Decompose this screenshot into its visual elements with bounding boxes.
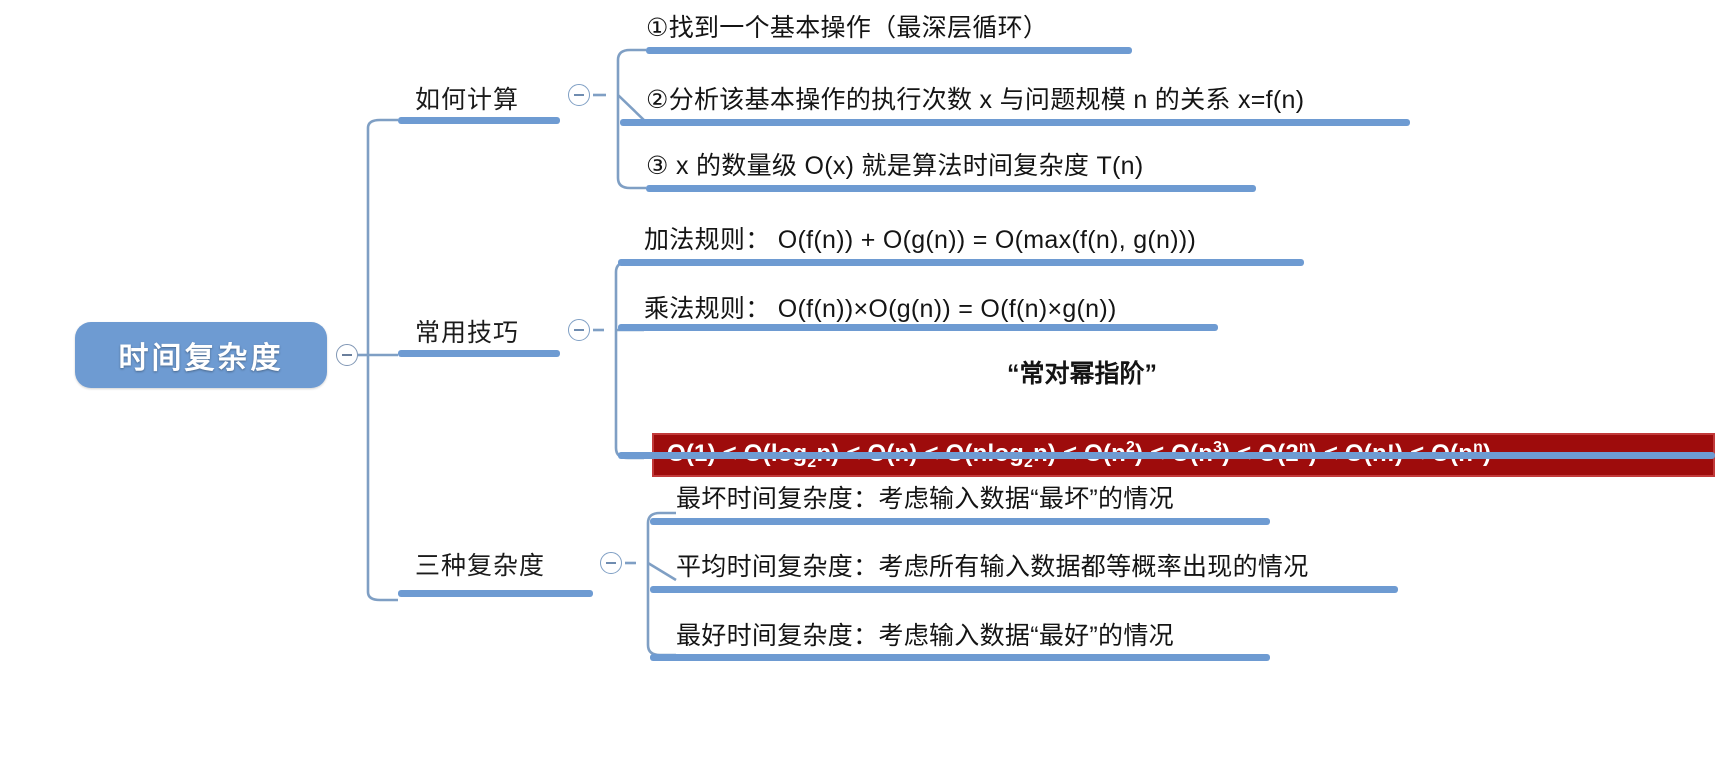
leaf-bar-average-case bbox=[650, 586, 1398, 593]
leaf-bar-step-3 bbox=[646, 185, 1256, 192]
branch-bar-common-techniques bbox=[398, 350, 560, 357]
leaf-average-case[interactable]: 平均时间复杂度：考虑所有输入数据都等概率出现的情况 bbox=[676, 547, 1309, 583]
branch-label-common-techniques[interactable]: 常用技巧 bbox=[415, 313, 519, 349]
leaf-order-mnemonic[interactable]: “常对幂指阶” bbox=[1007, 354, 1157, 390]
branch-label-three-complexities[interactable]: 三种复杂度 bbox=[415, 546, 545, 582]
branch-label-how-to-calculate[interactable]: 如何计算 bbox=[415, 80, 519, 116]
branch-bar-three-complexities bbox=[398, 590, 593, 597]
leaf-worst-case[interactable]: 最坏时间复杂度：考虑输入数据“最坏”的情况 bbox=[676, 479, 1174, 515]
root-node[interactable]: 时间复杂度 bbox=[75, 322, 327, 388]
leaf-bar-multiplication-rule bbox=[618, 324, 1218, 331]
branch-collapse-toggle-how-to-calculate-icon[interactable] bbox=[568, 84, 590, 106]
leaf-bar-best-case bbox=[650, 654, 1270, 661]
leaf-multiplication-rule[interactable]: 乘法规则： O(f(n))×O(g(n)) = O(f(n)×g(n)) bbox=[644, 289, 1117, 325]
branch-collapse-toggle-common-techniques-icon[interactable] bbox=[568, 319, 590, 341]
root-collapse-toggle-icon[interactable] bbox=[336, 344, 358, 366]
leaf-bar-worst-case bbox=[650, 518, 1270, 525]
leaf-step-3[interactable]: ③ x 的数量级 O(x) 就是算法时间复杂度 T(n) bbox=[646, 146, 1143, 182]
leaf-bar-addition-rule bbox=[618, 259, 1304, 266]
leaf-best-case[interactable]: 最好时间复杂度：考虑输入数据“最好”的情况 bbox=[676, 616, 1174, 652]
leaf-bar-step-2 bbox=[620, 119, 1410, 126]
leaf-bar-step-1 bbox=[646, 47, 1132, 54]
root-label: 时间复杂度 bbox=[119, 333, 284, 377]
leaf-bar-complexity-order bbox=[618, 452, 1715, 459]
leaf-addition-rule[interactable]: 加法规则： O(f(n)) + O(g(n)) = O(max(f(n), g(… bbox=[644, 220, 1196, 256]
leaf-step-1[interactable]: ①找到一个基本操作（最深层循环） bbox=[646, 8, 1048, 44]
branch-bar-how-to-calculate bbox=[398, 117, 560, 124]
branch-collapse-toggle-three-complexities-icon[interactable] bbox=[600, 552, 622, 574]
leaf-step-2[interactable]: ②分析该基本操作的执行次数 x 与问题规模 n 的关系 x=f(n) bbox=[646, 80, 1304, 116]
mindmap-canvas: 时间复杂度 如何计算 ①找到一个基本操作（最深层循环） ②分析该基本操作的执行次… bbox=[0, 0, 1715, 765]
